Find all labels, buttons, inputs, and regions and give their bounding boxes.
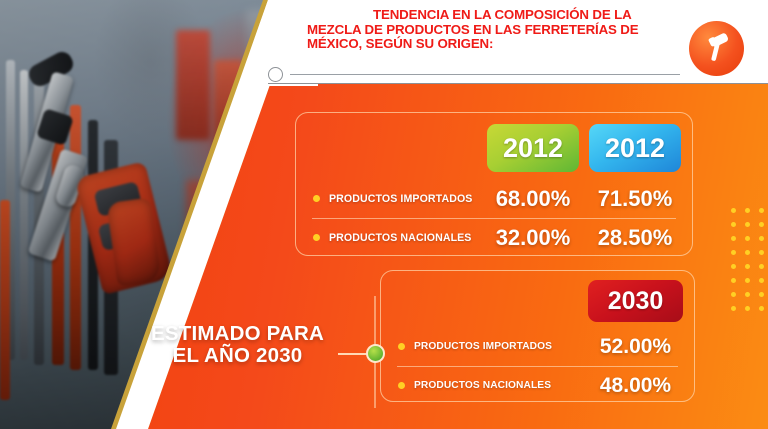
value-cell: 68.00% xyxy=(487,186,579,212)
value-cell: 28.50% xyxy=(589,225,681,251)
header-tick-circle xyxy=(268,67,283,82)
card-2012-rows: PRODUCTOS IMPORTADOS 68.00% 71.50% PRODU… xyxy=(296,179,692,257)
row-label: PRODUCTOS NACIONALES xyxy=(414,380,551,391)
estimate-caption-line1: ESTIMADO PARA xyxy=(130,323,345,345)
year-badges-2030: 2030 xyxy=(588,280,683,322)
row-values: 32.00% 28.50% xyxy=(477,218,681,257)
data-card-2030: 2030 PRODUCTOS IMPORTADOS 52.00% PRODUCT… xyxy=(380,270,695,402)
card-2030-rows: PRODUCTOS IMPORTADOS 52.00% PRODUCTOS NA… xyxy=(381,327,694,405)
header-tick-line xyxy=(290,74,680,75)
row-label: PRODUCTOS IMPORTADOS xyxy=(329,193,472,205)
estimate-caption-line2: EL AÑO 2030 xyxy=(130,345,345,367)
value-cell: 48.00% xyxy=(588,374,683,398)
row-values: 48.00% xyxy=(588,366,683,405)
row-label: PRODUCTOS NACIONALES xyxy=(329,232,471,244)
table-row: PRODUCTOS NACIONALES 32.00% 28.50% xyxy=(296,218,692,257)
hammer-icon xyxy=(700,31,734,65)
value-cell: 32.00% xyxy=(487,225,579,251)
row-values: 52.00% xyxy=(588,327,683,366)
table-row: PRODUCTOS IMPORTADOS 52.00% xyxy=(381,327,694,366)
row-values: 68.00% 71.50% xyxy=(477,179,681,218)
year-badge-2030: 2030 xyxy=(588,280,683,322)
bullet-icon xyxy=(313,234,320,241)
infographic-stage: TENDENCIA EN LA COMPOSICIÓN DE LA MEZCLA… xyxy=(0,0,768,429)
estimate-caption: ESTIMADO PARA EL AÑO 2030 xyxy=(130,323,345,367)
value-cell: 52.00% xyxy=(588,335,683,359)
connector-dot xyxy=(366,344,385,363)
decorative-dot-grid xyxy=(731,208,768,320)
year-badge-2012-green: 2012 xyxy=(487,124,579,172)
value-cell: 71.50% xyxy=(589,186,681,212)
page-title: TENDENCIA EN LA COMPOSICIÓN DE LA MEZCLA… xyxy=(307,8,682,52)
row-label: PRODUCTOS IMPORTADOS xyxy=(414,341,552,352)
bullet-icon xyxy=(313,195,320,202)
table-row: PRODUCTOS NACIONALES 48.00% xyxy=(381,366,694,405)
year-badges-2012: 2012 2012 xyxy=(487,124,681,172)
hammer-logo xyxy=(689,21,744,76)
bullet-icon xyxy=(398,382,405,389)
data-card-2012: 2012 2012 PRODUCTOS IMPORTADOS 68.00% 71… xyxy=(295,112,693,256)
year-badge-2012-blue: 2012 xyxy=(589,124,681,172)
bullet-icon xyxy=(398,343,405,350)
table-row: PRODUCTOS IMPORTADOS 68.00% 71.50% xyxy=(296,179,692,218)
